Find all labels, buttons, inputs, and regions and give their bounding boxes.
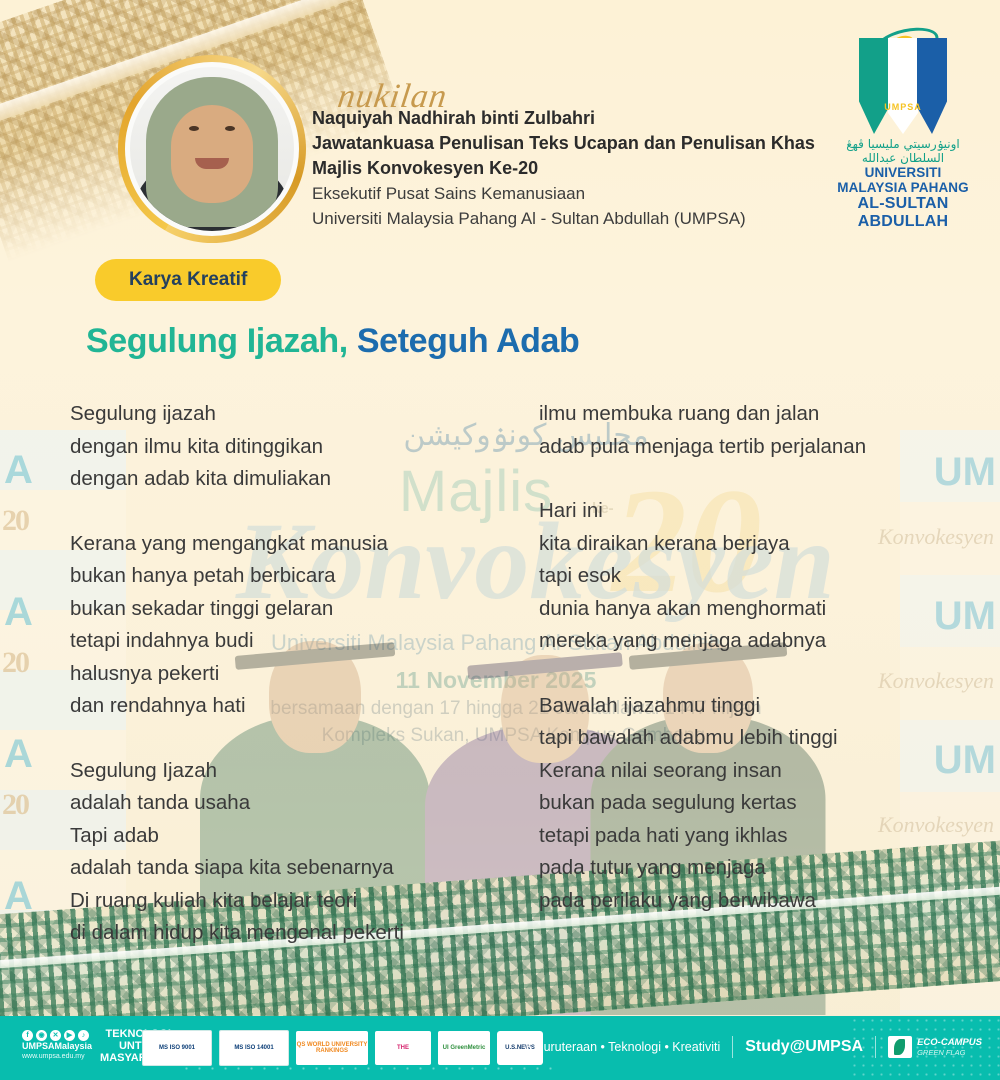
umpsa-name-line2: AL-SULTAN ABDULLAH	[828, 195, 978, 231]
poem-line: Tapi adab	[70, 820, 520, 853]
umpsa-monogram: UMPSA	[859, 102, 947, 112]
author-details: Naquiyah Nadhirah binti Zulbahri Jawatan…	[312, 106, 872, 231]
poem-line: Bawalah ijazahmu tinggi	[539, 690, 969, 723]
poem-line: pada perilaku yang berwibawa	[539, 885, 969, 918]
poem-line: Di ruang kuliah kita belajar teori	[70, 885, 520, 918]
strip-edition: 20	[2, 788, 28, 822]
poem-line: kita diraikan kerana berjaya	[539, 528, 969, 561]
poem-line: adalah tanda usaha	[70, 787, 520, 820]
poem-line: ilmu membuka ruang dan jalan	[539, 398, 969, 431]
youtube-icon[interactable]: ▶	[64, 1030, 75, 1041]
footer-divider-1	[732, 1036, 733, 1058]
eco-campus-line1: ECO-CAMPUS	[917, 1037, 982, 1048]
umpsa-logo: UMPSA اونيۏرسيتي مليسيا ڤهڠ السلطان عبدا…	[828, 38, 978, 163]
footer-bar: f ◉ ✕ ▶ ♪ UMPSAMalaysia www.umpsa.edu.my…	[0, 1016, 1000, 1080]
poster-canvas: A 20 A 20 A 20 A 20 UM Konvokesyen UM Ko…	[0, 0, 1000, 1080]
poem-line: adalah tanda siapa kita sebenarnya	[70, 852, 520, 885]
poem-line: Segulung ijazah	[70, 398, 520, 431]
tiktok-icon[interactable]: ♪	[78, 1030, 89, 1041]
umpsa-shield-icon: UMPSA	[859, 38, 947, 134]
poem-blank-line	[70, 496, 520, 528]
poem-column-left: Segulung ijazahdengan ilmu kita ditinggi…	[70, 398, 520, 950]
poem-line: pada tutur yang menjaga	[539, 852, 969, 885]
social-icons[interactable]: f ◉ ✕ ▶ ♪	[22, 1030, 92, 1041]
ms-iso-9001-badge: MS ISO 9001	[142, 1030, 212, 1066]
author-name: Naquiyah Nadhirah binti Zulbahri	[312, 106, 872, 131]
qs-rankings-badge: QS WORLD UNIVERSITY RANKINGS	[296, 1031, 368, 1065]
study-umpsa-label[interactable]: Study@UMPSA	[745, 1038, 863, 1056]
author-role-line1: Jawatankuasa Penulisan Teks Ucapan dan P…	[312, 131, 872, 156]
footer-right-block: Kejuruteraan • Teknologi • Kreativiti St…	[526, 1036, 983, 1058]
strip-letter: A	[4, 448, 33, 493]
poem-line: Kerana yang mengangkat manusia	[70, 528, 520, 561]
poem-line: bukan sekadar tinggi gelaran	[70, 593, 520, 626]
eco-campus-line2: GREEN FLAG	[917, 1048, 982, 1058]
social-handle: UMPSAMalaysia	[22, 1041, 92, 1052]
author-role-line2: Majlis Konvokesyen Ke-20	[312, 156, 872, 181]
the-rankings-badge: THE	[375, 1031, 431, 1065]
poem-line: di dalam hidup kita mengenal pekerti	[70, 917, 520, 950]
avatar	[125, 62, 299, 236]
author-position: Eksekutif Pusat Sains Kemanusiaan	[312, 181, 872, 206]
author-avatar-ring	[118, 55, 306, 243]
poem-line: Kerana nilai seorang insan	[539, 755, 969, 788]
poem-line: Hari ini	[539, 495, 969, 528]
page-title-part2: Seteguh Adab	[357, 322, 580, 360]
poem-line: dengan adab kita dimuliakan	[70, 463, 520, 496]
ui-greenmetric-badge: UI GreenMetric	[438, 1031, 490, 1065]
instagram-icon[interactable]: ◉	[36, 1030, 47, 1041]
strip-letter: A	[4, 732, 33, 777]
page-title-part1: Segulung Ijazah,	[86, 322, 348, 360]
poem-line: tetapi indahnya budi	[70, 625, 520, 658]
poem-line: halusnya pekerti	[70, 658, 520, 691]
x-icon[interactable]: ✕	[50, 1030, 61, 1041]
facebook-icon[interactable]: f	[22, 1030, 33, 1041]
poem-line: Segulung Ijazah	[70, 755, 520, 788]
strip-edition: 20	[2, 646, 28, 680]
poem-line: bukan hanya petah berbicara	[70, 560, 520, 593]
poem-blank-line	[539, 463, 969, 495]
poem-line: dengan ilmu kita ditinggikan	[70, 431, 520, 464]
footer-divider-2	[875, 1036, 876, 1058]
poem-line: tapi bawalah adabmu lebih tinggi	[539, 722, 969, 755]
eco-campus-badge: ECO-CAMPUS GREEN FLAG	[888, 1036, 982, 1058]
leaf-icon	[888, 1036, 912, 1058]
strip-letter: A	[4, 590, 33, 635]
poem-line: tetapi pada hati yang ikhlas	[539, 820, 969, 853]
poem-line: bukan pada segulung kertas	[539, 787, 969, 820]
poem-line: mereka yang menjaga adabnya	[539, 625, 969, 658]
poem-line: dunia hanya akan menghormati	[539, 593, 969, 626]
page-title: Segulung Ijazah, Seteguh Adab	[86, 322, 579, 361]
footer-tagline: Kejuruteraan • Teknologi • Kreativiti	[526, 1040, 721, 1054]
poem-line: dan rendahnya hati	[70, 690, 520, 723]
author-institution: Universiti Malaysia Pahang Al - Sultan A…	[312, 206, 872, 231]
poem-column-right: ilmu membuka ruang dan jalanadab pula me…	[539, 398, 969, 917]
strip-edition: 20	[2, 504, 28, 538]
poem-blank-line	[539, 658, 969, 690]
umpsa-name-line1: UNIVERSITI MALAYSIA PAHANG	[828, 165, 978, 195]
website-url[interactable]: www.umpsa.edu.my	[22, 1052, 92, 1062]
umpsa-jawi-text: اونيۏرسيتي مليسيا ڤهڠ السلطان عبدالله	[828, 137, 978, 165]
poem-line: tapi esok	[539, 560, 969, 593]
accreditation-badges: MS ISO 9001 MS ISO 14001 QS WORLD UNIVER…	[142, 1030, 543, 1066]
category-badge: Karya Kreatif	[95, 259, 281, 301]
ms-iso-14001-badge: MS ISO 14001	[219, 1030, 289, 1066]
poem-line: adab pula menjaga tertib perjalanan	[539, 431, 969, 464]
poem-blank-line	[70, 723, 520, 755]
